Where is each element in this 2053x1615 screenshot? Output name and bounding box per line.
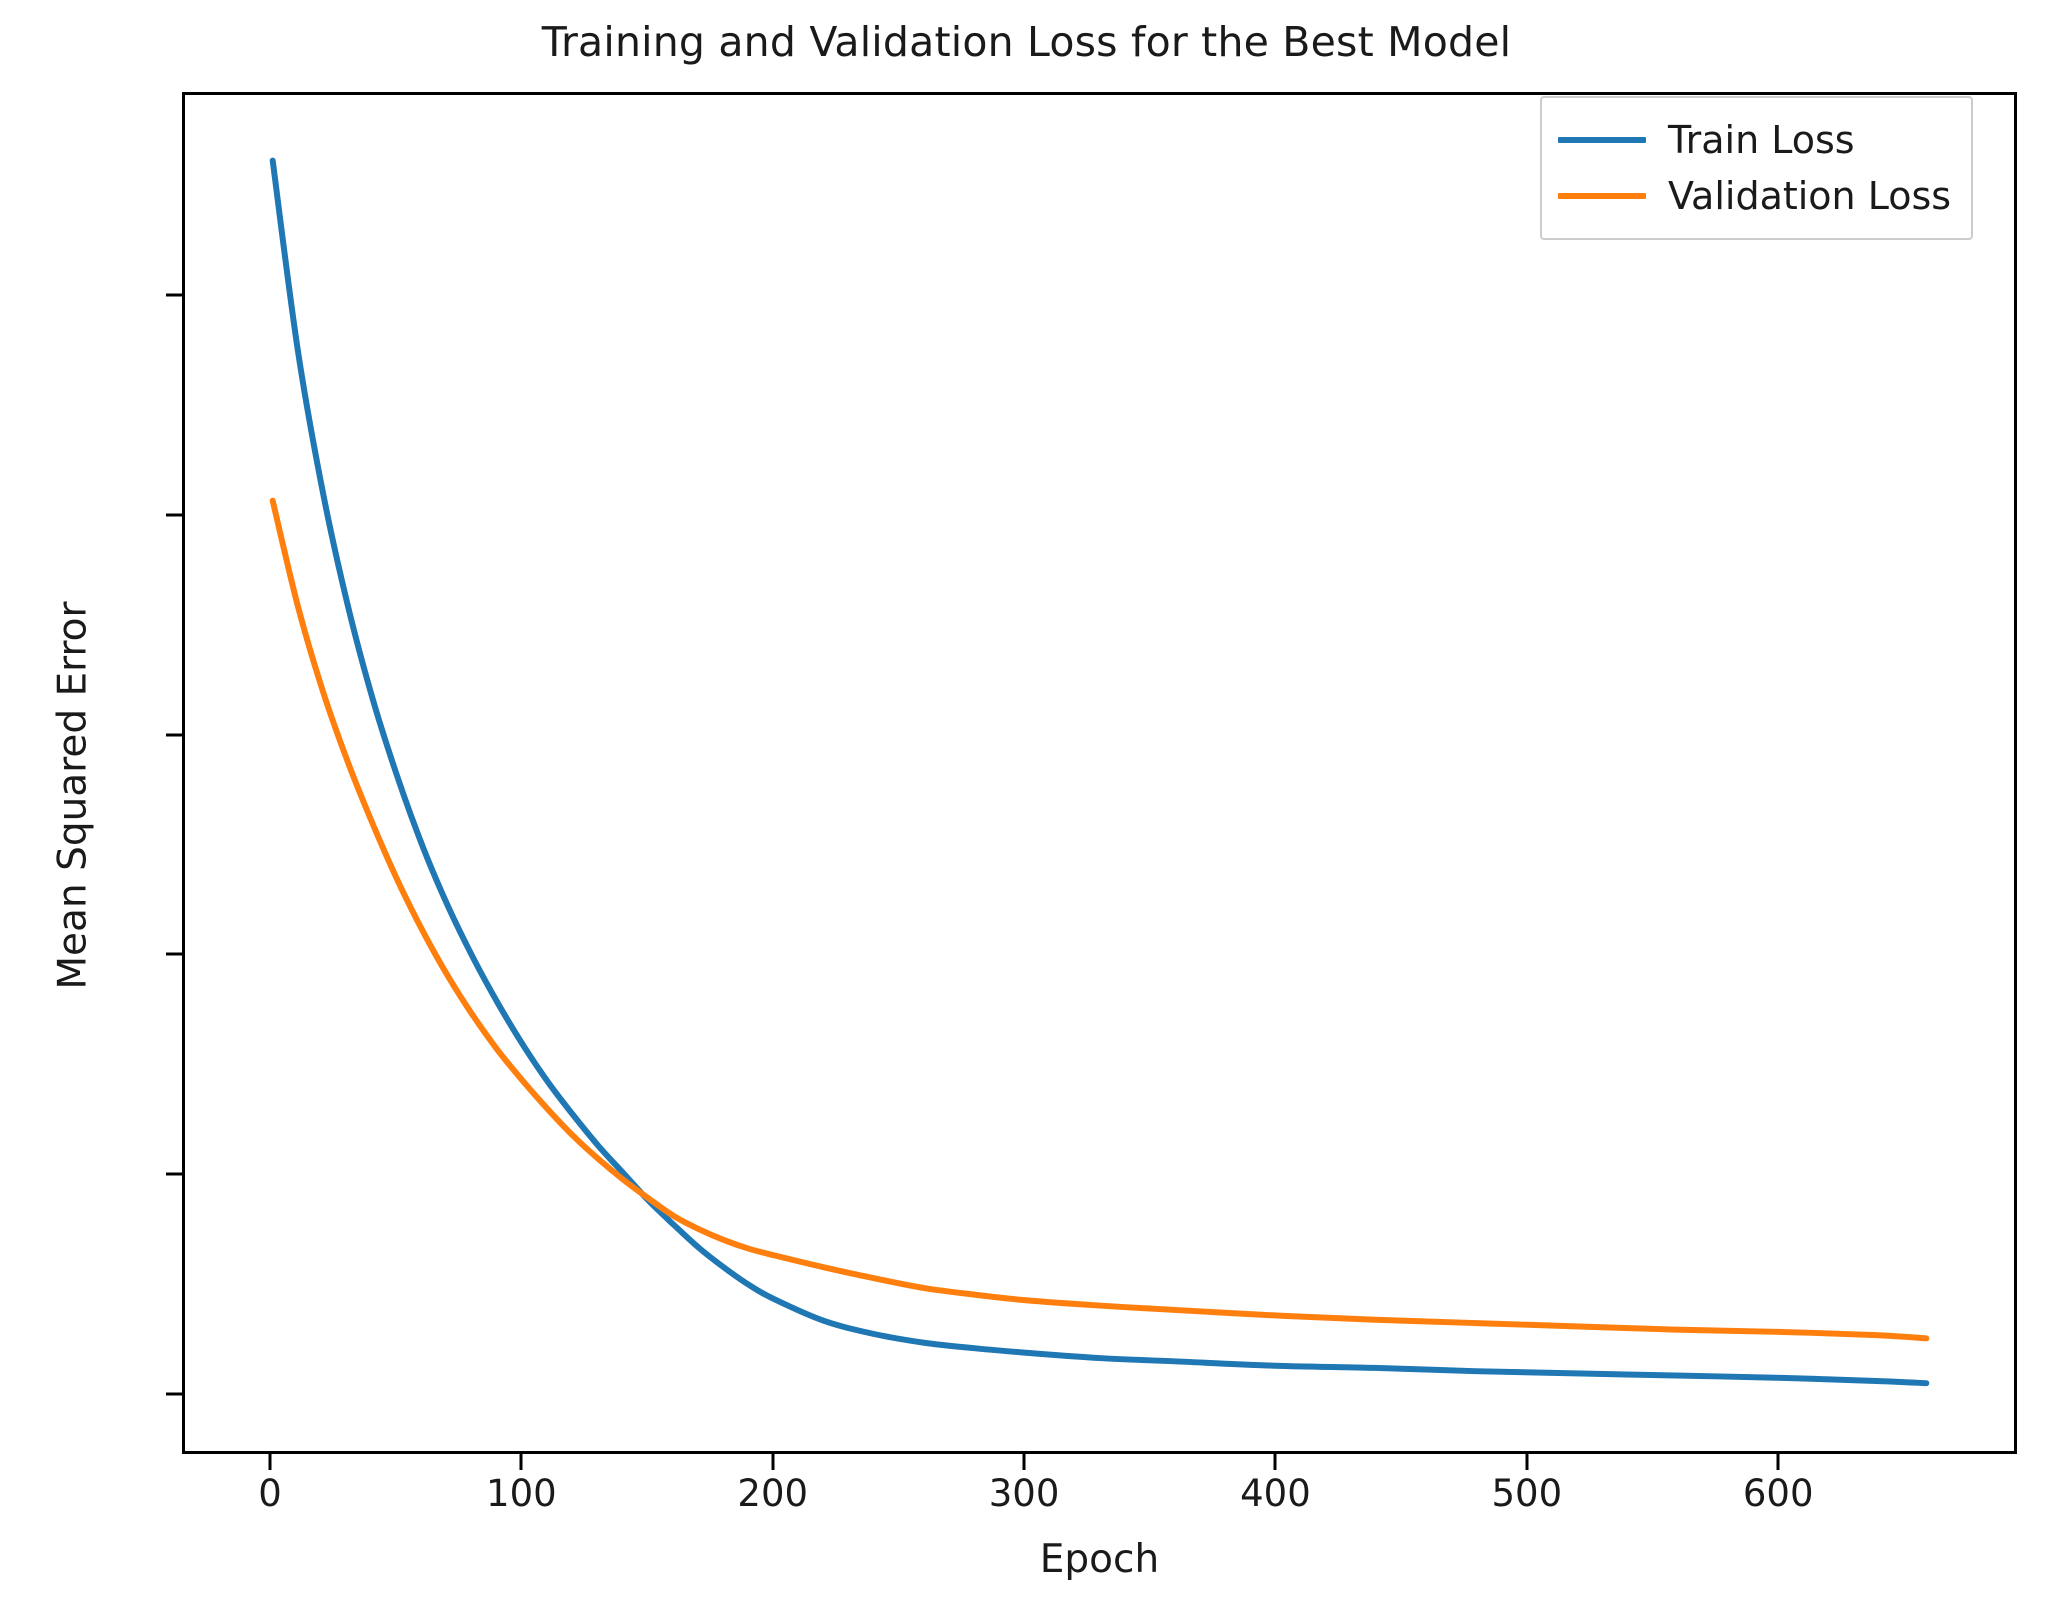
legend-item-label: Train Loss: [1668, 118, 1855, 162]
series-line-validation-loss: [273, 501, 1927, 1339]
chart-canvas: [185, 95, 2014, 1451]
x-tick-mark: [1274, 1454, 1277, 1470]
y-tick-mark: [166, 1172, 182, 1175]
y-axis-label: Mean Squared Error: [51, 396, 96, 1196]
x-axis-label: Epoch: [182, 1537, 2017, 1582]
x-tick-label: 100: [486, 1472, 557, 1515]
x-tick-mark: [520, 1454, 523, 1470]
y-tick-mark: [166, 294, 182, 297]
y-tick-mark: [166, 953, 182, 956]
x-tick-label: 400: [1240, 1472, 1311, 1515]
x-tick-mark: [1525, 1454, 1528, 1470]
x-tick-mark: [1023, 1454, 1026, 1470]
legend-item[interactable]: Train Loss: [1558, 112, 1951, 168]
chart-title: Training and Validation Loss for the Bes…: [0, 18, 2053, 66]
series-line-train-loss: [273, 161, 1927, 1384]
x-tick-mark: [771, 1454, 774, 1470]
x-tick-mark: [1777, 1454, 1780, 1470]
legend-color-swatch: [1558, 137, 1646, 143]
chart-figure: Training and Validation Loss for the Bes…: [0, 0, 2053, 1615]
legend-color-swatch: [1558, 193, 1646, 199]
x-tick-label: 200: [737, 1472, 808, 1515]
plot-area: [182, 92, 2017, 1454]
y-tick-mark: [166, 513, 182, 516]
x-tick-label: 600: [1743, 1472, 1814, 1515]
y-tick-mark: [166, 1392, 182, 1395]
x-tick-label: 300: [989, 1472, 1060, 1515]
x-tick-label: 0: [258, 1472, 282, 1515]
y-tick-mark: [166, 733, 182, 736]
chart-legend: Train LossValidation Loss: [1540, 96, 1973, 240]
x-tick-mark: [268, 1454, 271, 1470]
legend-item-label: Validation Loss: [1668, 174, 1951, 218]
legend-item[interactable]: Validation Loss: [1558, 168, 1951, 224]
x-tick-label: 500: [1492, 1472, 1563, 1515]
